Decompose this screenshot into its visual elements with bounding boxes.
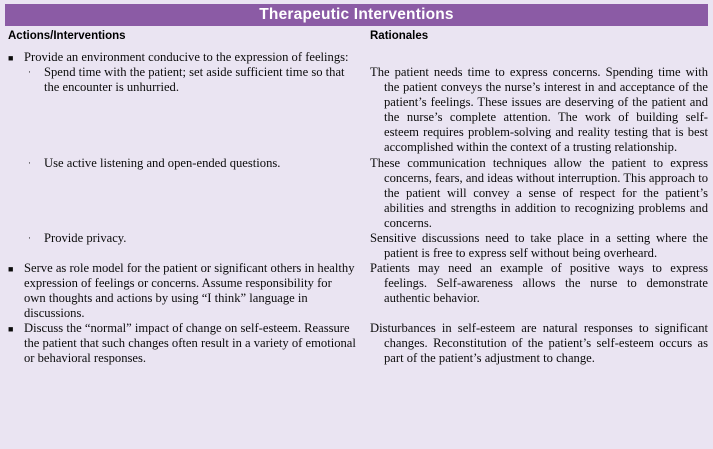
table-row: ■Provide an environment conducive to the… (0, 50, 713, 65)
square-bullet-icon: ■ (8, 261, 22, 278)
action-text: Serve as role model for the patient or s… (24, 261, 356, 321)
dot-bullet-icon: · (28, 231, 40, 247)
rationale-cell: Sensitive discussions need to take place… (370, 231, 708, 261)
action-text: Use active listening and open-ended ques… (44, 156, 356, 171)
action-text: Provide privacy. (44, 231, 356, 246)
column-header-actions: Actions/Interventions (8, 30, 126, 42)
table-row: ■Discuss the “normal” impact of change o… (0, 321, 713, 366)
table-row: ·Spend time with the patient; set aside … (0, 65, 713, 156)
column-header-row: Actions/Interventions Rationales (0, 30, 713, 50)
bullet-item: ■Provide an environment conducive to the… (8, 50, 356, 65)
rationale-cell: Disturbances in self-esteem are natural … (370, 321, 708, 366)
table-title-bar: Therapeutic Interventions (5, 4, 708, 26)
column-header-rationales: Rationales (370, 30, 428, 42)
rationale-cell: These communication techniques allow the… (370, 156, 708, 231)
rationale-text: Patients may need an example of positive… (370, 261, 708, 306)
page-title: Therapeutic Interventions (259, 7, 453, 23)
rationale-text: Disturbances in self-esteem are natural … (370, 321, 708, 366)
sub-bullet-item: ·Use active listening and open-ended que… (8, 156, 356, 171)
action-cell: ■Provide an environment conducive to the… (8, 50, 356, 65)
therapeutic-interventions-table: Therapeutic Interventions Actions/Interv… (0, 0, 713, 449)
table-body: ■Provide an environment conducive to the… (0, 50, 713, 366)
action-text: Provide an environment conducive to the … (24, 50, 356, 65)
sub-bullet-item: ·Spend time with the patient; set aside … (8, 65, 356, 95)
action-text: Spend time with the patient; set aside s… (44, 65, 356, 95)
dot-bullet-icon: · (28, 65, 40, 81)
rationale-text: The patient needs time to express concer… (370, 65, 708, 156)
table-row: ■Serve as role model for the patient or … (0, 261, 713, 321)
action-cell: ·Use active listening and open-ended que… (8, 156, 356, 171)
bullet-item: ■Discuss the “normal” impact of change o… (8, 321, 356, 366)
action-cell: ·Provide privacy. (8, 231, 356, 246)
square-bullet-icon: ■ (8, 321, 22, 338)
action-text: Discuss the “normal” impact of change on… (24, 321, 356, 366)
rationale-text: Sensitive discussions need to take place… (370, 231, 708, 261)
action-cell: ■Serve as role model for the patient or … (8, 261, 356, 321)
rationale-cell: The patient needs time to express concer… (370, 65, 708, 156)
table-row: ·Use active listening and open-ended que… (0, 156, 713, 231)
action-cell: ·Spend time with the patient; set aside … (8, 65, 356, 95)
rationale-cell: Patients may need an example of positive… (370, 261, 708, 306)
table-row: ·Provide privacy.Sensitive discussions n… (0, 231, 713, 261)
sub-bullet-item: ·Provide privacy. (8, 231, 356, 246)
action-cell: ■Discuss the “normal” impact of change o… (8, 321, 356, 366)
bullet-item: ■Serve as role model for the patient or … (8, 261, 356, 321)
rationale-text: These communication techniques allow the… (370, 156, 708, 231)
dot-bullet-icon: · (28, 156, 40, 172)
